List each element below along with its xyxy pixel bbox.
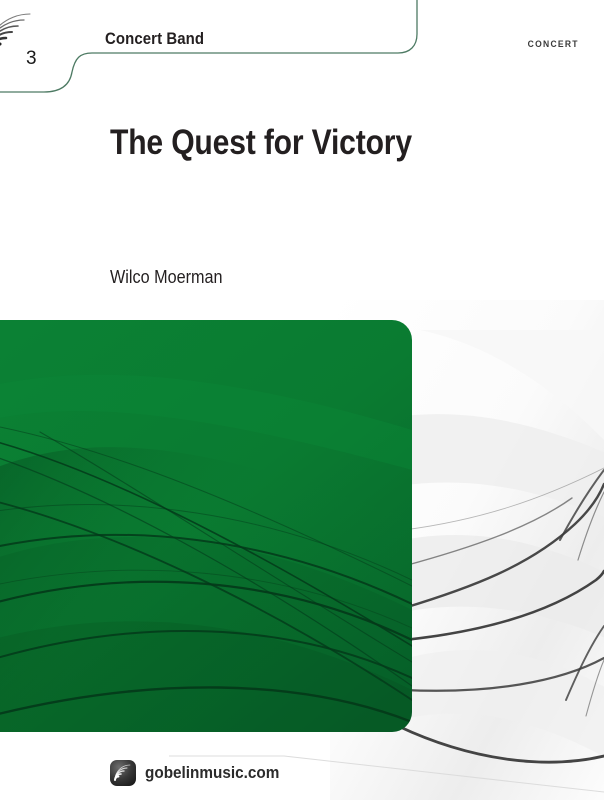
grade-number: 3 xyxy=(26,48,37,70)
series-label: CONCERT xyxy=(528,39,579,50)
composer-name: Wilco Moerman xyxy=(110,267,223,288)
footer: gobelinmusic.com xyxy=(110,757,294,789)
cover-artwork xyxy=(0,0,604,800)
green-panel xyxy=(0,320,412,732)
footer-rule xyxy=(0,740,604,800)
ribbon-backdrop xyxy=(330,300,604,800)
ribbon-lines-right xyxy=(398,468,604,762)
gobelin-fan-icon xyxy=(0,8,50,70)
ensemble-label: Concert Band xyxy=(105,29,204,49)
sheet-music-cover: 3 Concert Band CONCERT The Quest for Vic… xyxy=(0,0,604,800)
publisher-url[interactable]: gobelinmusic.com xyxy=(145,763,279,783)
header-rule xyxy=(0,0,604,110)
page-title: The Quest for Victory xyxy=(110,123,412,163)
gobelin-fan-badge-icon xyxy=(110,760,136,786)
green-panel-waves xyxy=(0,375,412,760)
